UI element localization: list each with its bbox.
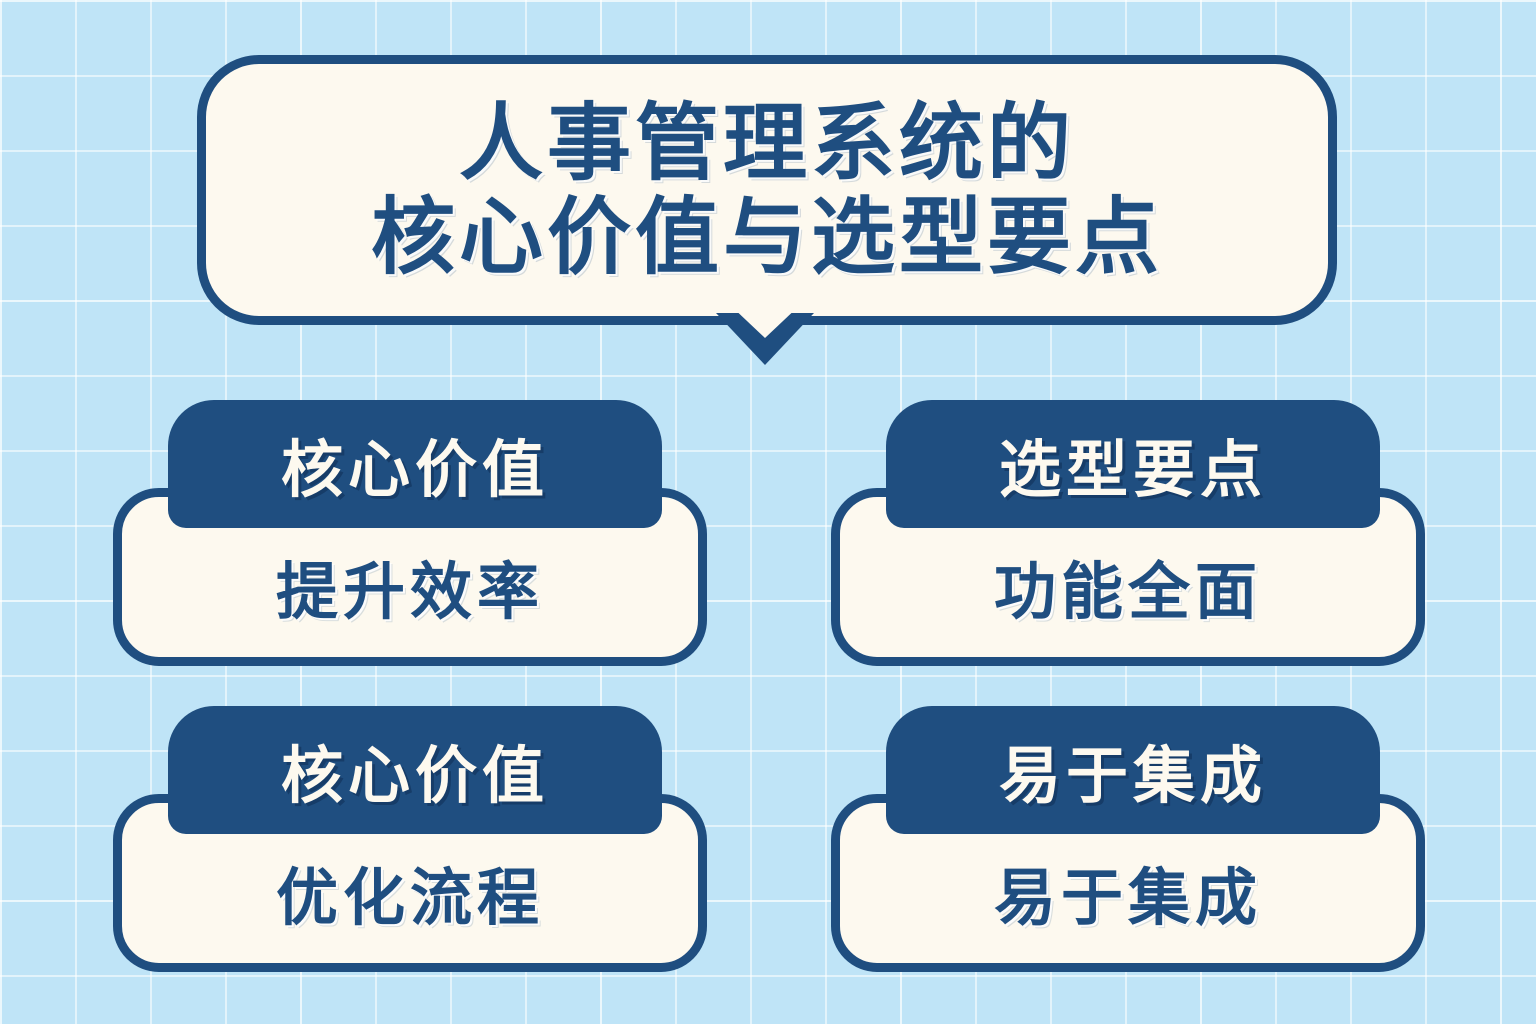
card-body-label: 功能全面 <box>994 541 1262 631</box>
card-header-label: 核心价值 <box>281 419 549 509</box>
title-speech-bubble: 人事管理系统的 核心价值与选型要点 <box>197 55 1337 325</box>
speech-bubble-tail-fill <box>729 304 801 338</box>
card-header-label: 核心价值 <box>281 725 549 815</box>
card-header-label: 易于集成 <box>999 725 1267 815</box>
card-header-pill: 核心价值 <box>168 400 662 528</box>
card-header-label: 选型要点 <box>999 419 1267 509</box>
card-header-pill: 易于集成 <box>886 706 1380 834</box>
card-header-pill: 核心价值 <box>168 706 662 834</box>
page-title-line-1: 人事管理系统的 <box>459 96 1075 190</box>
card-body-label: 提升效率 <box>276 541 544 631</box>
page-title-line-2: 核心价值与选型要点 <box>371 190 1163 284</box>
card-body-label: 易于集成 <box>994 847 1262 937</box>
card-body-label: 优化流程 <box>276 847 544 937</box>
infographic-canvas: 人事管理系统的 核心价值与选型要点 提升效率 核心价值 功能全面 选型要点 优化… <box>0 0 1536 1024</box>
card-header-pill: 选型要点 <box>886 400 1380 528</box>
